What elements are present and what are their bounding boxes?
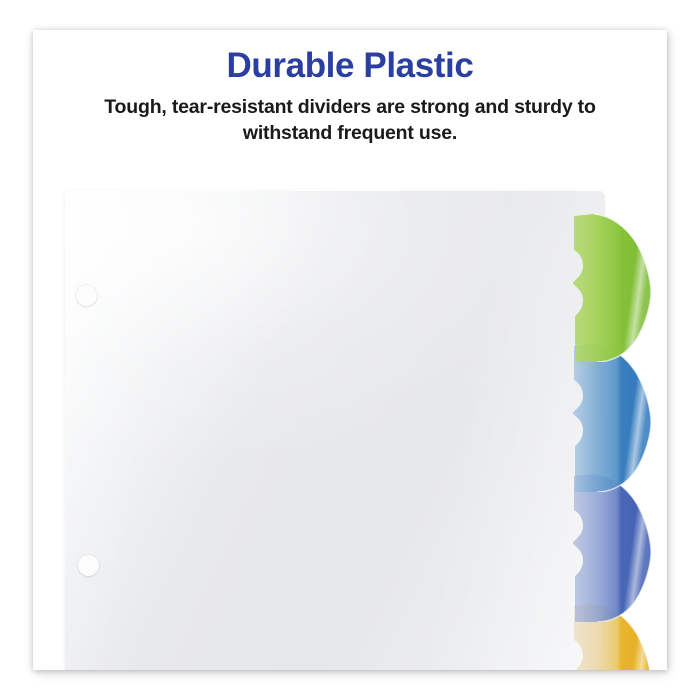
sheet-gloss-highlight <box>65 190 605 670</box>
divider-sheet <box>65 190 605 670</box>
punch-hole-bottom <box>78 555 99 576</box>
royal-blue-tab[interactable] <box>547 472 657 622</box>
green-tab[interactable] <box>547 212 657 362</box>
sheet-sheen-highlight <box>65 190 605 670</box>
blue-tab[interactable] <box>547 342 657 492</box>
product-image-card: Durable Plastic Tough, tear-resistant di… <box>33 30 667 670</box>
divider-product-illustration <box>33 30 667 670</box>
punch-hole-top <box>76 285 97 306</box>
